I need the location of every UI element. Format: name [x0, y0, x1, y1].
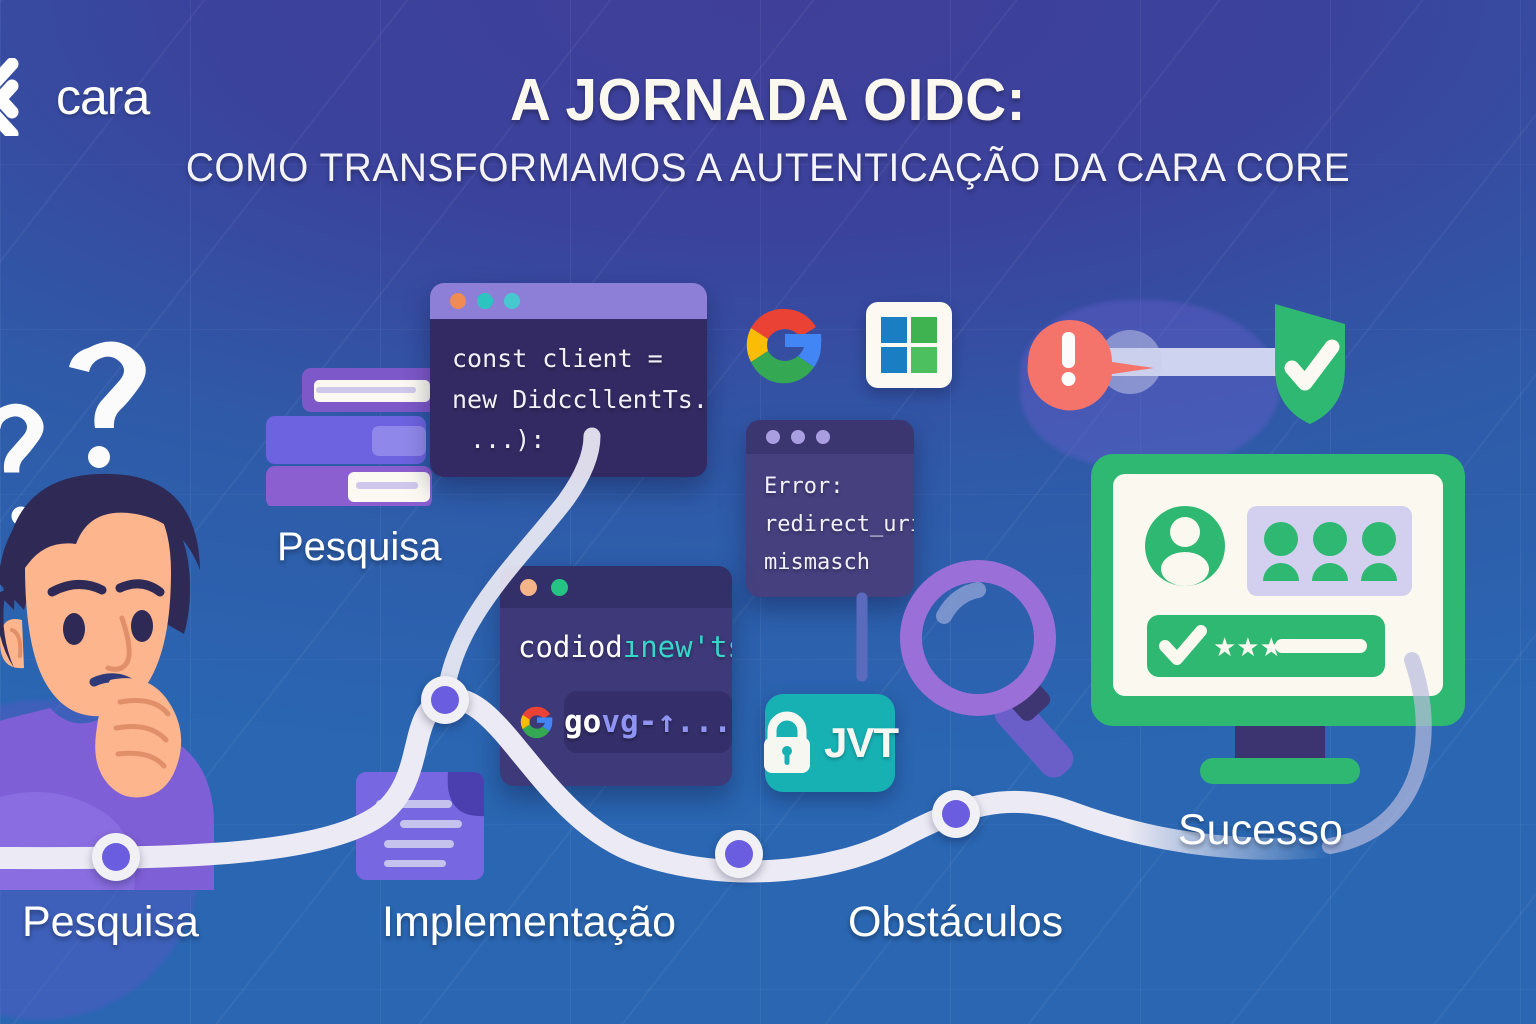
timeline-label-pesquisa: Pesquisa [22, 898, 199, 947]
timeline-node-dot [942, 800, 970, 828]
timeline-node-4[interactable] [932, 790, 980, 838]
timeline-node-3[interactable] [715, 830, 763, 878]
timeline-node-dot [102, 843, 130, 871]
infographic-canvas: cara A JORNADA OIDC: COMO TRANSFORMAMOS … [0, 0, 1536, 1024]
timeline-label-implementacao: Implementação [382, 898, 676, 947]
timeline-path [0, 0, 1536, 1024]
timeline-label-obstaculos: Obstáculos [848, 898, 1063, 947]
timeline-node-2[interactable] [421, 676, 469, 724]
timeline-label-sucesso: Sucesso [1178, 806, 1343, 855]
timeline-node-dot [725, 840, 753, 868]
timeline-node-dot [431, 686, 459, 714]
timeline-node-1[interactable] [92, 833, 140, 881]
